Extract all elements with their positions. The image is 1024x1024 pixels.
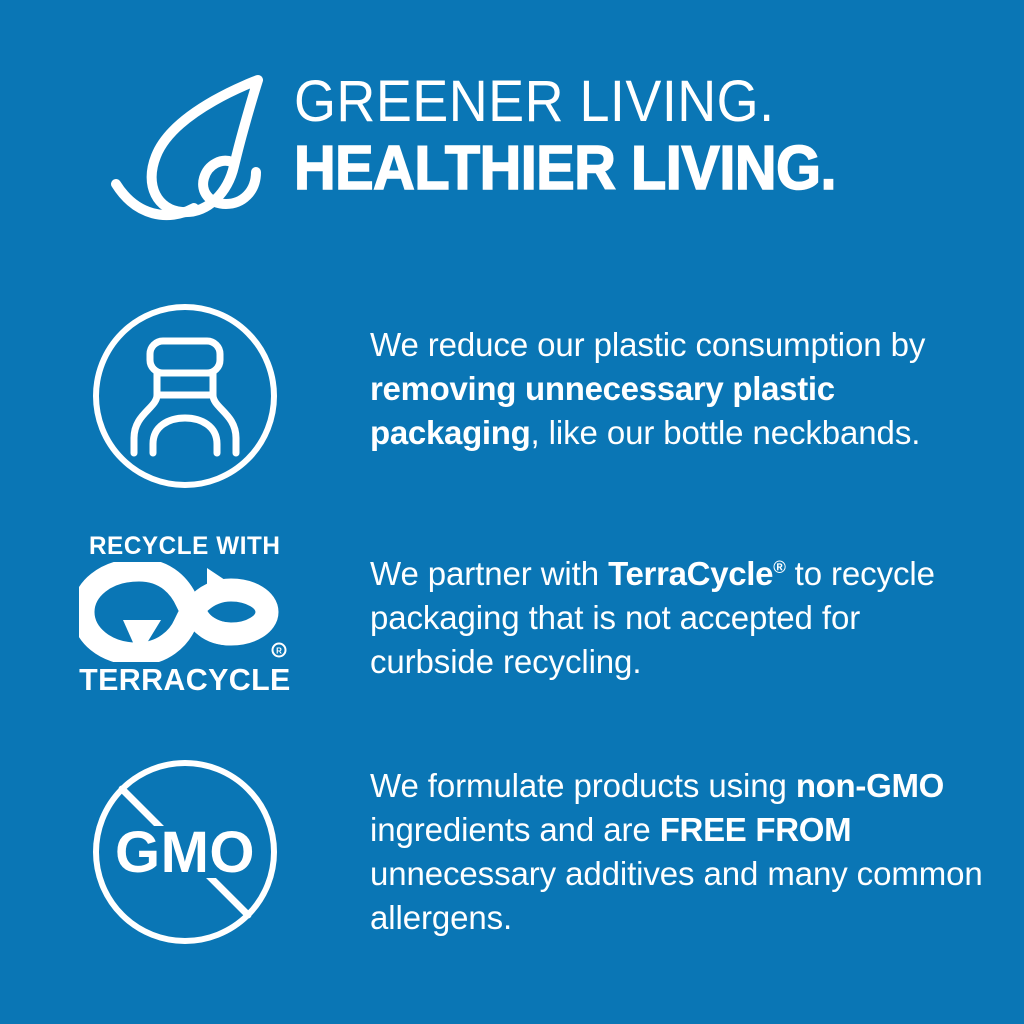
- feature-row-plastic-reduction: We reduce our plastic consumption by rem…: [0, 296, 1024, 496]
- text-cell-non-gmo: We formulate products using non-GMO ingr…: [370, 752, 1024, 973]
- gmo-label: GMO: [115, 820, 255, 885]
- terracycle-bottom-label: TERRACYCLE: [79, 663, 291, 697]
- headline-line-2: HEALTHIER LIVING.: [294, 136, 836, 202]
- no-gmo-icon: GMO: [87, 754, 283, 950]
- terracycle-logo: RECYCLE WITH R TERRACYC: [78, 532, 293, 697]
- header-banner: GREENER LIVING. HEALTHIER LIVING.: [0, 62, 1024, 237]
- terracycle-top-label: RECYCLE WITH: [89, 532, 281, 560]
- headline-block: GREENER LIVING. HEALTHIER LIVING.: [294, 70, 877, 202]
- body-text-terracycle: We partner with TerraCycle® to recycle p…: [370, 552, 984, 684]
- icon-cell-gmo: GMO: [0, 752, 370, 952]
- feature-row-terracycle: RECYCLE WITH R TERRACYC: [0, 534, 1024, 714]
- body-text-plastic-reduction: We reduce our plastic consumption by rem…: [370, 323, 984, 455]
- icon-cell-terracycle: RECYCLE WITH R TERRACYC: [0, 534, 370, 714]
- text-cell-plastic-reduction: We reduce our plastic consumption by rem…: [370, 296, 1024, 488]
- body-text-non-gmo: We formulate products using non-GMO ingr…: [370, 764, 984, 940]
- icon-cell-bottle: [0, 296, 370, 496]
- terracycle-infinity-mark: R: [79, 562, 291, 662]
- text-cell-terracycle: We partner with TerraCycle® to recycle p…: [370, 534, 1024, 717]
- headline-line-1: GREENER LIVING.: [294, 70, 836, 134]
- infographic-page: GREENER LIVING. HEALTHIER LIVING. We red…: [0, 0, 1024, 1024]
- leaf-icon: [110, 70, 280, 232]
- bottle-neckband-icon: [87, 298, 283, 494]
- svg-text:R: R: [276, 647, 282, 656]
- feature-row-non-gmo: GMO We formulate products using non-GMO …: [0, 752, 1024, 957]
